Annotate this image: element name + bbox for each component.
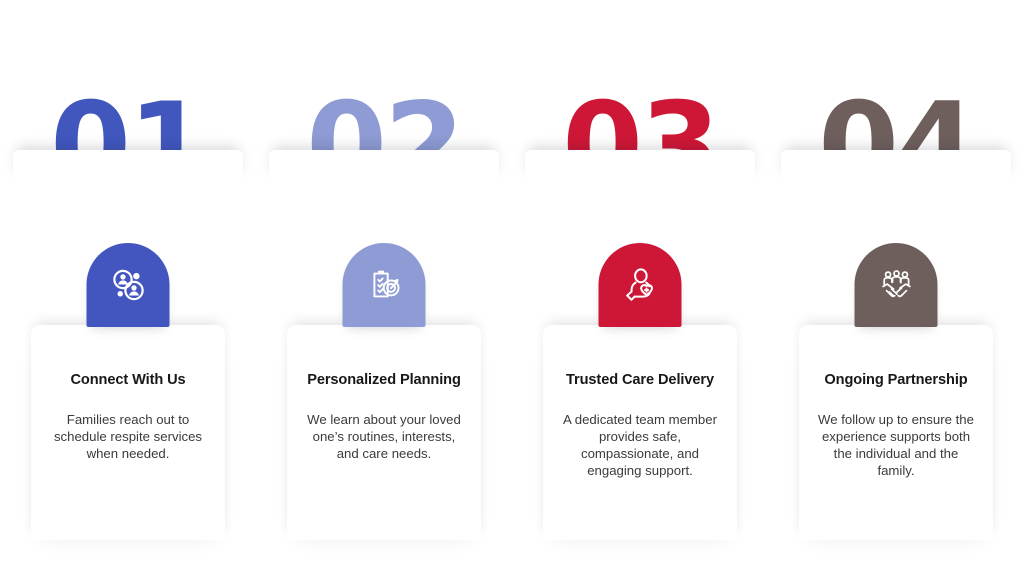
number-mask-03 <box>475 183 805 237</box>
number-mask-01 <box>0 183 293 237</box>
step-title-04: Ongoing Partnership <box>812 371 980 391</box>
icon-badge-03[interactable] <box>599 243 682 327</box>
icon-badge-02[interactable] <box>343 243 426 327</box>
step-number-04: 04 <box>818 96 973 183</box>
step-card-02: 02 Personalized Planning We learn about … <box>256 0 512 576</box>
step-title-02: Personalized Planning <box>300 371 468 391</box>
step-title-01: Connect With Us <box>44 371 212 391</box>
infographic-stage: 01 Connect With Us Families reach out to… <box>0 0 1024 576</box>
number-mask-04 <box>731 183 1024 237</box>
step-card-03: 03 Trusted Care Delivery A dedicated tea… <box>512 0 768 576</box>
step-number-03: 03 <box>562 96 717 183</box>
clipboard-target-icon <box>362 263 406 307</box>
content-card-04: Ongoing Partnership We follow up to ensu… <box>799 325 993 540</box>
icon-badge-04[interactable] <box>855 243 938 327</box>
content-card-02: Personalized Planning We learn about you… <box>287 325 481 540</box>
people-group-icon <box>106 263 150 307</box>
icon-badge-01[interactable] <box>87 243 170 327</box>
number-mask-02 <box>219 183 549 237</box>
step-number-02: 02 <box>306 96 461 183</box>
content-card-03: Trusted Care Delivery A dedicated team m… <box>543 325 737 540</box>
step-description-04: We follow up to ensure the experience su… <box>816 411 976 480</box>
step-number-clip-01: 01 <box>0 72 256 183</box>
step-description-01: Families reach out to schedule respite s… <box>48 411 208 462</box>
content-card-01: Connect With Us Families reach out to sc… <box>31 325 225 540</box>
step-number-clip-02: 02 <box>256 72 512 183</box>
handshake-team-icon <box>874 263 918 307</box>
step-description-03: A dedicated team member provides safe, c… <box>560 411 720 480</box>
step-description-02: We learn about your loved one’s routines… <box>304 411 464 462</box>
step-card-04: 04 Ongoing Partnership We follow up to e… <box>768 0 1024 576</box>
step-card-01: 01 Connect With Us Families reach out to… <box>0 0 256 576</box>
step-title-03: Trusted Care Delivery <box>556 371 724 391</box>
steps-grid: 01 Connect With Us Families reach out to… <box>0 0 1024 576</box>
step-number-clip-03: 03 <box>512 72 768 183</box>
step-number-clip-04: 04 <box>768 72 1024 183</box>
caregiver-heart-icon <box>618 263 662 307</box>
step-number-01: 01 <box>50 96 205 183</box>
